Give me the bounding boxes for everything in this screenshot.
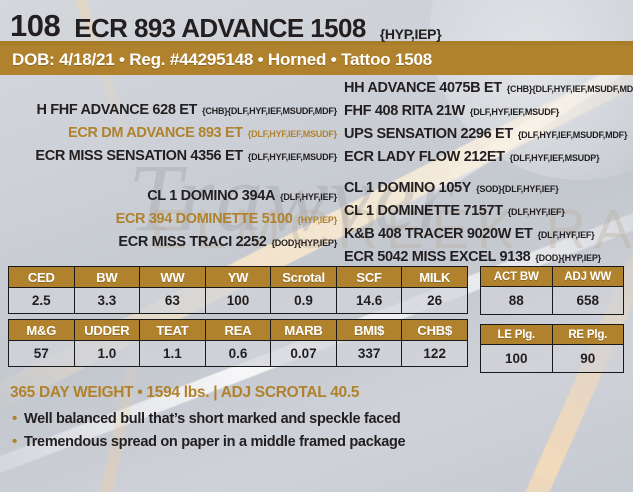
pedigree-name: ECR LADY FLOW 212ET <box>344 149 505 165</box>
column-header: TEAT <box>140 320 206 341</box>
column-header: YW <box>205 267 271 288</box>
pedigree-entry: ECR LADY FLOW 212ET {DLF,HYF,IEF,MSUDP} <box>344 149 599 165</box>
description-bullet: • Well balanced bull that’s short marked… <box>12 411 633 427</box>
table-cell: 63 <box>140 288 206 314</box>
pedigree-entry-dam: ECR 394 DOMINETTE 5100 {HYP,IEP} <box>116 211 337 227</box>
table-cell: 1.0 <box>74 341 140 367</box>
column-header: BMI$ <box>336 320 402 341</box>
column-header: SCF <box>336 267 402 288</box>
pedigree-entry: CL 1 DOMINO 105Y {SOD}{DLF,HYF,IEF} <box>344 180 559 196</box>
table-cell: 3.3 <box>74 288 140 314</box>
pedigree-entry: CL 1 DOMINETTE 7157T {DLF,HYF,IEF} <box>344 203 565 219</box>
animal-name: ECR 893 ADVANCE 1508 <box>74 15 365 41</box>
table-cell: 1.1 <box>140 341 206 367</box>
pedigree-name: FHF 408 RITA 21W <box>344 103 465 119</box>
animal-info-bar: DOB: 4/18/21 • Reg. #44295148 • Horned •… <box>0 45 633 75</box>
column-header: ACT BW <box>481 267 553 287</box>
animal-name-codes: {HYP,IEP} <box>380 27 442 41</box>
table-row: 100 90 <box>481 345 624 373</box>
pedigree-entry-sire: ECR DM ADVANCE 893 ET {DLF,HYF,IEF,MSUDF… <box>68 125 337 141</box>
bullet-text: Well balanced bull that’s short marked a… <box>24 411 400 427</box>
pedigree-codes: {DLF,HYF,IEF} <box>538 230 595 240</box>
description-bullet: • Tremendous spread on paper in a middle… <box>12 434 633 450</box>
pedigree-name: ECR DM ADVANCE 893 ET <box>68 125 243 141</box>
pedigree-entry: ECR MISS SENSATION 4356 ET {DLF,HYF,IEF,… <box>35 148 337 164</box>
bullet-dot-icon: • <box>12 434 17 449</box>
pedigree-entry: K&B 408 TRACER 9020W ET {DLF,HYF,IEF} <box>344 226 594 242</box>
column-header: MARB <box>271 320 337 341</box>
pedigree-codes: {DLF,HYF,IEF} <box>508 207 565 217</box>
column-header: CED <box>9 267 75 288</box>
column-header: LE Plg. <box>481 325 553 345</box>
table-cell: 26 <box>402 288 468 314</box>
pedigree-entry: HH ADVANCE 4075B ET {CHB}{DLF,HYF,IEF,MS… <box>344 80 633 96</box>
pedigree-codes: {HYP,IEP} <box>297 215 337 225</box>
column-header: Scrotal <box>271 267 337 288</box>
pigment-table: LE Plg. RE Plg. 100 90 <box>480 324 624 373</box>
pedigree-name: HH ADVANCE 4075B ET <box>344 80 502 96</box>
table-row: 57 1.0 1.1 0.6 0.07 337 122 <box>9 341 468 367</box>
pedigree-name: ECR 394 DOMINETTE 5100 <box>116 211 293 227</box>
data-tables: CED BW WW YW Scrotal SCF MILK 2.5 3.3 63… <box>0 266 633 373</box>
pedigree-name: ECR MISS SENSATION 4356 ET <box>35 148 242 164</box>
epd-table: CED BW WW YW Scrotal SCF MILK 2.5 3.3 63… <box>8 266 468 367</box>
pedigree-name: CL 1 DOMINO 394A <box>147 188 275 204</box>
pedigree-codes: {CHB}{DLF,HYF,IEF,MSUDF,MDF} <box>202 106 337 116</box>
table-cell: 90 <box>552 345 624 373</box>
page-content: 108 ECR 893 ADVANCE 1508 {HYP,IEP} DOB: … <box>0 0 633 450</box>
table-cell: 122 <box>402 341 468 367</box>
pedigree-name: ECR 5042 MISS EXCEL 9138 <box>344 249 530 265</box>
pedigree-codes: {CHB}{DLF,HYF,IEF,MSUDF,MDF} <box>507 84 633 94</box>
table-cell: 14.6 <box>336 288 402 314</box>
table-cell: 100 <box>481 345 553 373</box>
pedigree-name: UPS SENSATION 2296 ET <box>344 126 513 142</box>
pedigree-codes: {DOD}{HYP,IEP} <box>535 253 601 263</box>
pedigree-entry: H FHF ADVANCE 628 ET {CHB}{DLF,HYF,IEF,M… <box>36 102 337 118</box>
pedigree-name: CL 1 DOMINO 105Y <box>344 180 471 196</box>
pedigree-codes: {DLF,HYF,IEF,MSUDF} <box>248 129 337 139</box>
pedigree-name: H FHF ADVANCE 628 ET <box>36 102 197 118</box>
pedigree-name: CL 1 DOMINETTE 7157T <box>344 203 503 219</box>
weight-summary-line: 365 DAY WEIGHT • 1594 lbs. | ADJ SCROTAL… <box>10 384 633 402</box>
pedigree-codes: {DLF,HYF,IEF} <box>280 192 337 202</box>
title-row: 108 ECR 893 ADVANCE 1508 {HYP,IEP} <box>0 0 633 41</box>
pedigree-name: ECR MISS TRACI 2252 <box>118 234 266 250</box>
lot-number: 108 <box>10 10 60 41</box>
side-tables: ACT BW ADJ WW 88 658 LE Plg. RE Plg. 100 <box>480 266 624 373</box>
pedigree-name: K&B 408 TRACER 9020W ET <box>344 226 533 242</box>
table-header-row: ACT BW ADJ WW <box>481 267 624 287</box>
pedigree-column-parents: H FHF ADVANCE 628 ET {CHB}{DLF,HYF,IEF,M… <box>0 80 340 262</box>
table-cell: 2.5 <box>9 288 75 314</box>
pedigree-codes: {DLF,HYF,IEF,MSUDP} <box>510 153 600 163</box>
table-header-row: M&G UDDER TEAT REA MARB BMI$ CHB$ <box>9 320 468 341</box>
pedigree-entry: ECR 5042 MISS EXCEL 9138 {DOD}{HYP,IEP} <box>344 249 601 265</box>
table-row: 2.5 3.3 63 100 0.9 14.6 26 <box>9 288 468 314</box>
table-cell: 337 <box>336 341 402 367</box>
pedigree-codes: {SOD}{DLF,HYF,IEF} <box>476 184 558 194</box>
table-header-row: CED BW WW YW Scrotal SCF MILK <box>9 267 468 288</box>
column-header: UDDER <box>74 320 140 341</box>
pedigree-entry: CL 1 DOMINO 394A {DLF,HYF,IEF} <box>147 188 337 204</box>
column-header: WW <box>140 267 206 288</box>
catalog-page: Trawver ELMCREEK RANCH 108 ECR 893 ADVAN… <box>0 0 633 492</box>
pedigree-codes: {DLF,HYF,IEF,MSUDF,MDF} <box>518 130 627 140</box>
pedigree-entry: FHF 408 RITA 21W {DLF,HYF,IEF,MSUDF} <box>344 103 559 119</box>
pedigree-codes: {DLF,HYF,IEF,MSUDF} <box>248 152 337 162</box>
table-cell: 658 <box>552 287 624 315</box>
column-header: ADJ WW <box>552 267 624 287</box>
column-header: REA <box>205 320 271 341</box>
table-header-row: LE Plg. RE Plg. <box>481 325 624 345</box>
table-cell: 88 <box>481 287 553 315</box>
table-cell: 57 <box>9 341 75 367</box>
description-bullets: • Well balanced bull that’s short marked… <box>12 411 633 450</box>
table-row: 88 658 <box>481 287 624 315</box>
column-header: MILK <box>402 267 468 288</box>
column-header: CHB$ <box>402 320 468 341</box>
column-header: BW <box>74 267 140 288</box>
actual-weights-table: ACT BW ADJ WW 88 658 <box>480 266 624 315</box>
animal-info-text: DOB: 4/18/21 • Reg. #44295148 • Horned •… <box>12 50 432 70</box>
pedigree-panel: H FHF ADVANCE 628 ET {CHB}{DLF,HYF,IEF,M… <box>0 80 633 262</box>
table-cell: 0.9 <box>271 288 337 314</box>
pedigree-entry: ECR MISS TRACI 2252 {DOD}{HYP,IEP} <box>118 234 337 250</box>
column-header: M&G <box>9 320 75 341</box>
pedigree-codes: {DOD}{HYP,IEP} <box>271 238 337 248</box>
bullet-text: Tremendous spread on paper in a middle f… <box>24 434 405 450</box>
column-header: RE Plg. <box>552 325 624 345</box>
table-cell: 100 <box>205 288 271 314</box>
bullet-dot-icon: • <box>12 411 17 426</box>
table-cell: 0.6 <box>205 341 271 367</box>
pedigree-column-grandparents: HH ADVANCE 4075B ET {CHB}{DLF,HYF,IEF,MS… <box>340 80 633 262</box>
table-cell: 0.07 <box>271 341 337 367</box>
pedigree-codes: {DLF,HYF,IEF,MSUDF} <box>470 107 559 117</box>
pedigree-entry: UPS SENSATION 2296 ET {DLF,HYF,IEF,MSUDF… <box>344 126 627 142</box>
